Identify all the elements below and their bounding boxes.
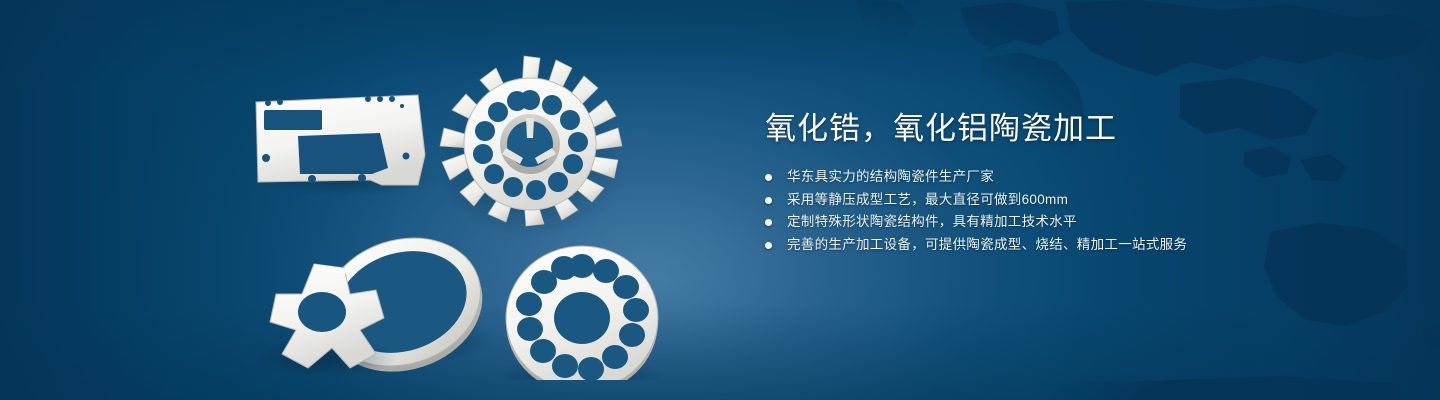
list-item: 采用等静压成型工艺，最大直径可做到600mm [765, 189, 1385, 212]
ceramic-impeller [434, 56, 626, 238]
hero-banner: 氧化锆，氧化铝陶瓷加工 华东具实力的结构陶瓷件生产厂家 采用等静压成型工艺，最大… [0, 0, 1440, 400]
feature-list: 华东具实力的结构陶瓷件生产厂家 采用等静压成型工艺，最大直径可做到600mm 定… [765, 166, 1385, 256]
banner-copy: 氧化锆，氧化铝陶瓷加工 华东具实力的结构陶瓷件生产厂家 采用等静压成型工艺，最大… [765, 108, 1385, 256]
list-item-label: 采用等静压成型工艺，最大直径可做到600mm [787, 192, 1068, 207]
bullet-dot-icon [765, 174, 772, 181]
list-item-label: 完善的生产加工设备，可提供陶瓷成型、烧结、精加工一站式服务 [787, 237, 1187, 252]
list-item: 定制特殊形状陶瓷结构件，具有精加工技术水平 [765, 211, 1385, 234]
ceramic-parts-photo [230, 40, 730, 380]
list-item: 完善的生产加工设备，可提供陶瓷成型、烧结、精加工一站式服务 [765, 234, 1385, 257]
banner-headline: 氧化锆，氧化铝陶瓷加工 [765, 108, 1385, 150]
list-item: 华东具实力的结构陶瓷件生产厂家 [765, 166, 1385, 189]
bullet-dot-icon [765, 219, 772, 226]
bullet-dot-icon [765, 242, 772, 249]
ceramic-plate [250, 95, 440, 197]
list-item-label: 定制特殊形状陶瓷结构件，具有精加工技术水平 [787, 214, 1077, 229]
bullet-dot-icon [765, 197, 772, 204]
list-item-label: 华东具实力的结构陶瓷件生产厂家 [787, 169, 994, 184]
ceramic-perforated-disc [500, 246, 664, 380]
